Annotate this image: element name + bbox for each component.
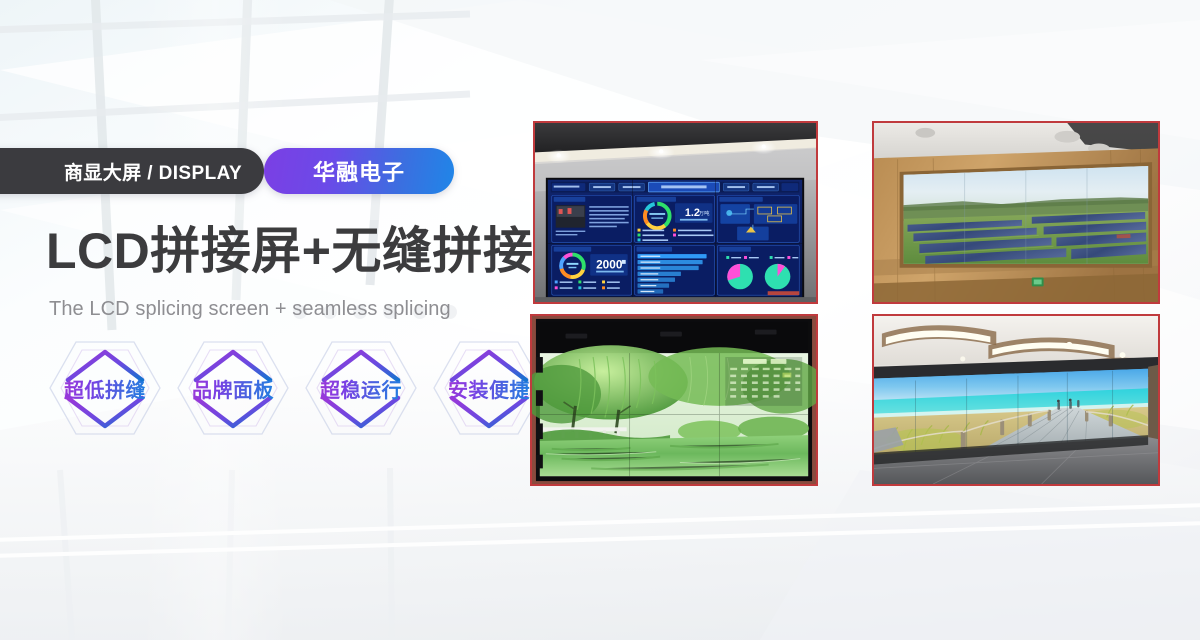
feature-badge: 超低拼缝: [46, 336, 164, 440]
feature-label: 超低拼缝: [64, 374, 146, 403]
photo-willow-lake-wall: [530, 314, 818, 486]
photo-solar-farm-wall: [872, 121, 1160, 304]
svg-text:2000: 2000: [596, 259, 623, 272]
company-badge: 华融电子: [264, 148, 454, 194]
feature-label: 超稳运行: [320, 374, 402, 403]
beach-boardwalk-scene: [874, 316, 1158, 484]
photo-beach-boardwalk-wall: [872, 314, 1160, 486]
product-banner: 商显大屏 / DISPLAY 华融电子 LCD拼接屏+无缝拼接 The LCD …: [0, 0, 1200, 640]
control-room-scene: 1.2 万吨: [535, 123, 816, 302]
brand-badge-row: 商显大屏 / DISPLAY 华融电子: [50, 148, 454, 194]
feature-label: 安装便捷: [448, 374, 530, 403]
photo-control-room-dashboard: 1.2 万吨: [533, 121, 818, 304]
feature-badge-list: 超低拼缝 品牌面板: [46, 336, 548, 440]
solar-farm-scene: [874, 123, 1158, 302]
category-badge: 商显大屏 / DISPLAY: [0, 148, 264, 194]
feature-label: 品牌面板: [192, 374, 274, 403]
banner-content: 商显大屏 / DISPLAY 华融电子 LCD拼接屏+无缝拼接 The LCD …: [46, 0, 516, 640]
page-title: LCD拼接屏+无缝拼接: [46, 226, 533, 276]
svg-text:万吨: 万吨: [699, 209, 710, 217]
feature-badge: 超稳运行: [302, 336, 420, 440]
feature-badge: 品牌面板: [174, 336, 292, 440]
page-subtitle: The LCD splicing screen + seamless splic…: [49, 298, 451, 321]
willow-lake-scene: [532, 316, 816, 484]
svg-text:1.2: 1.2: [685, 207, 700, 219]
